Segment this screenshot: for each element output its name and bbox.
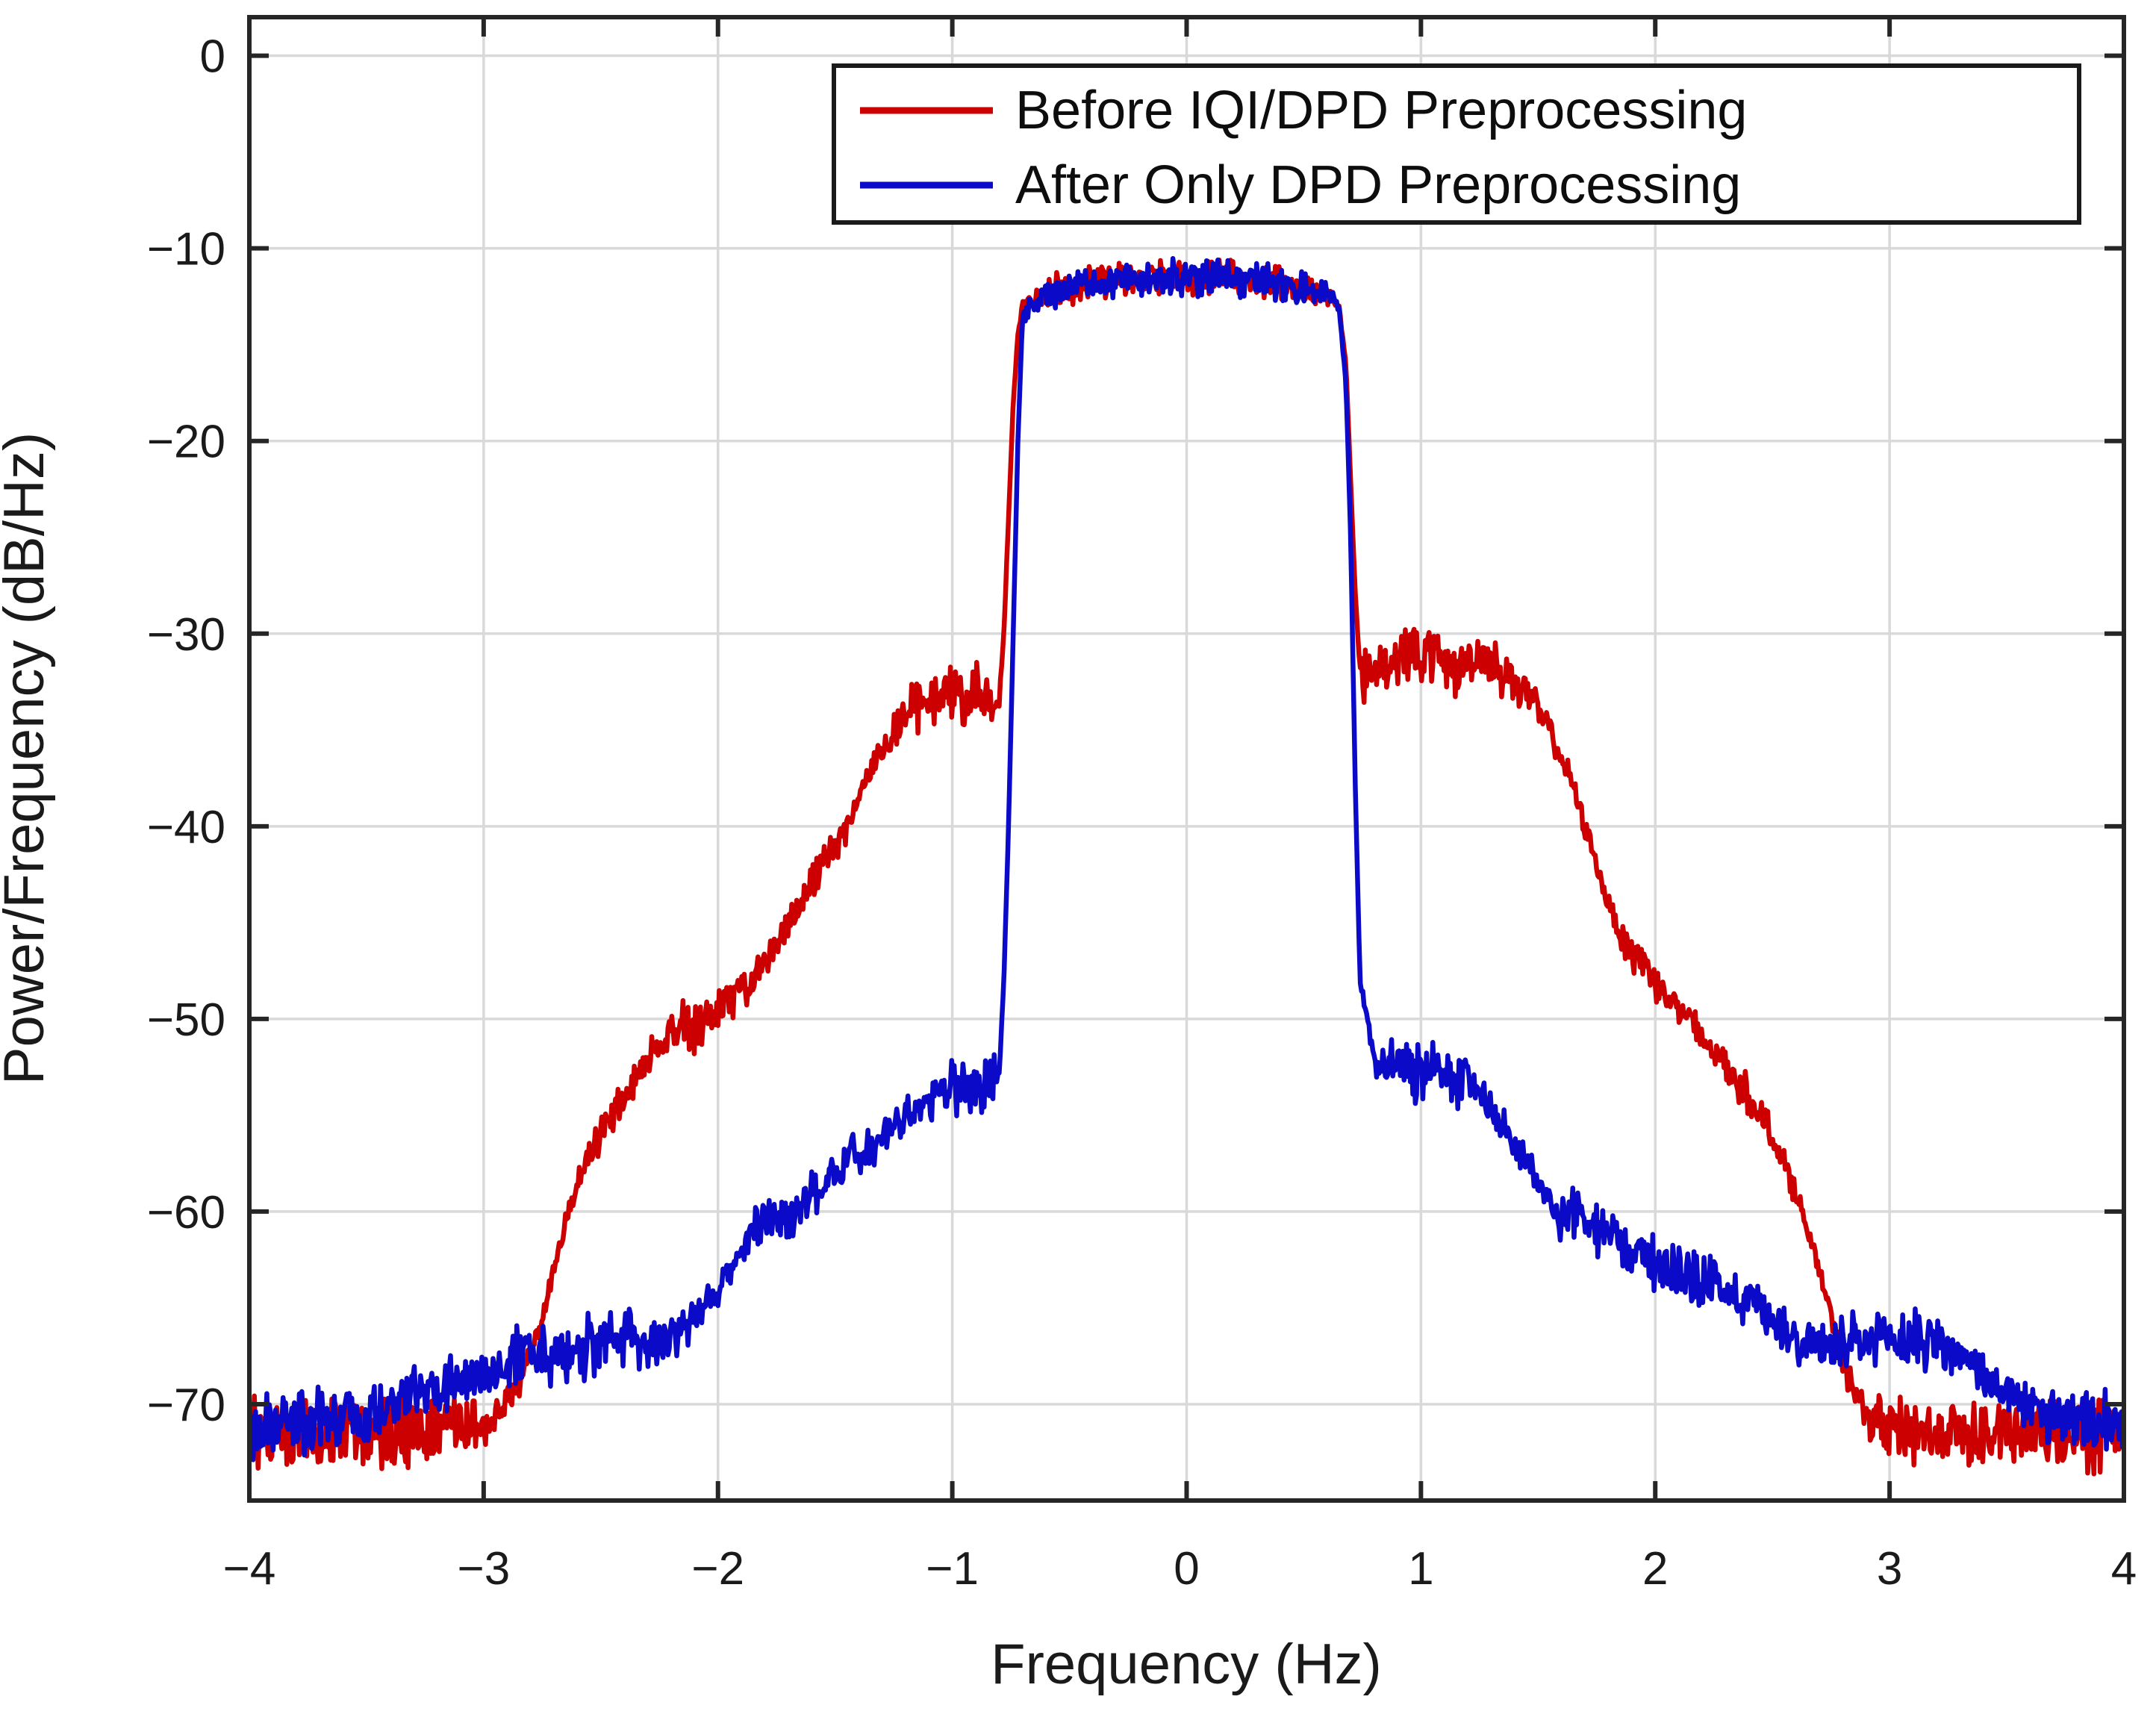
y-tick-label: −70 [147,1380,225,1431]
y-tick-label: −50 [147,994,225,1046]
psd-chart: −4−3−2−101234 0−10−20−30−40−50−60−70 Fre… [0,0,2156,1723]
x-tick-label: −3 [458,1543,511,1595]
x-tick-label: 4 [2111,1543,2137,1595]
x-tick-label: −4 [223,1543,276,1595]
x-tick-label: 1 [1408,1543,1433,1595]
legend-label-before: Before IQI/DPD Preprocessing [1015,81,1747,140]
y-tick-label: −30 [147,609,225,661]
x-tick-label: 3 [1877,1543,1902,1595]
x-tick-label: 2 [1642,1543,1668,1595]
x-axis-title: Frequency (Hz) [991,1633,1382,1696]
y-axis-title: Power/Frequency (dB/Hz) [0,432,56,1085]
y-tick-label: −60 [147,1187,225,1238]
figure-container: −4−3−2−101234 0−10−20−30−40−50−60−70 Fre… [0,0,2156,1723]
legend[interactable]: Before IQI/DPD Preprocessing After Only … [834,66,2079,222]
x-tick-label: −2 [691,1543,744,1595]
y-tick-label: 0 [200,31,225,83]
y-tick-label: −10 [147,224,225,275]
x-tick-label: −1 [926,1543,979,1595]
y-tick-label: −20 [147,417,225,468]
x-tick-label: 0 [1174,1543,1199,1595]
chart-background [0,0,2156,1723]
y-tick-label: −40 [147,802,225,853]
legend-label-after: After Only DPD Preprocessing [1015,155,1741,215]
